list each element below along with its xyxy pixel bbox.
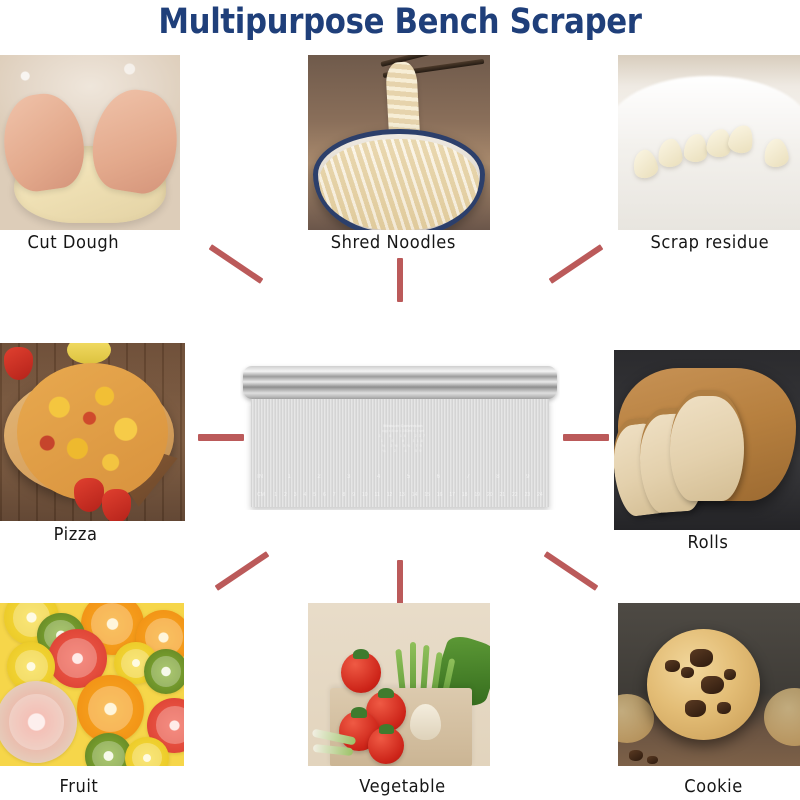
chocolate-chip-crumb	[629, 750, 644, 761]
rolls-photo	[614, 350, 800, 530]
connector-vegetable	[397, 560, 403, 604]
caption-cookie: Cookie	[684, 777, 743, 797]
use-case-rolls[interactable]	[614, 350, 800, 530]
connector-scrap-residue	[549, 244, 604, 284]
chocolate-chip	[717, 702, 731, 714]
ruler-inches: IN 12345 6789	[257, 471, 543, 483]
use-case-fruit[interactable]	[0, 603, 184, 766]
caption-fruit: Fruit	[59, 777, 98, 797]
fruit-photo	[0, 603, 184, 766]
pizza-photo	[0, 343, 185, 521]
cookie-photo	[618, 603, 800, 766]
caption-rolls: Rolls	[688, 533, 729, 553]
page-title: Multipurpose Bench Scraper	[48, 2, 752, 42]
connector-pizza	[198, 434, 244, 441]
chocolate-chip	[685, 700, 705, 717]
ruler-cm-marks: 123456 789101112 131415161718 1920212223…	[274, 492, 543, 498]
chocolate-chip-cookie	[647, 629, 760, 740]
vegetable-photo	[308, 603, 490, 766]
use-case-shred-noodles[interactable]	[308, 55, 490, 230]
connector-fruit	[215, 551, 270, 591]
connector-rolls	[563, 434, 609, 441]
chocolate-chip	[681, 667, 695, 678]
infographic-page: Multipurpose Bench Scraper Cut Dough	[0, 0, 800, 800]
ruler-inch-marks: 12345 6789	[274, 474, 543, 480]
kiwi-slice	[144, 649, 184, 695]
use-case-cut-dough[interactable]	[0, 55, 180, 230]
conversion-table-row: ¼ 2 4 59	[358, 449, 447, 454]
connector-shred-noodles	[397, 258, 403, 302]
caption-shred-noodles: Shred Noodles	[331, 233, 456, 253]
use-case-pizza[interactable]	[0, 343, 185, 521]
chocolate-chip	[701, 676, 724, 695]
conversion-table: Measure Conversion cup x 8 oz = 240ml = …	[358, 423, 447, 468]
use-case-scrap-residue[interactable]	[618, 55, 800, 230]
use-case-vegetable[interactable]	[308, 603, 490, 766]
scraper-handle	[243, 366, 557, 399]
connector-cookie	[544, 551, 599, 591]
background-cookie	[764, 688, 800, 747]
scraper-blade: Measure Conversion cup x 8 oz = 240ml = …	[251, 399, 549, 507]
connector-cut-dough	[209, 244, 264, 284]
product-image[interactable]: Measure Conversion cup x 8 oz = 240ml = …	[240, 360, 560, 510]
bread-slice	[670, 390, 744, 502]
caption-cut-dough: Cut Dough	[27, 233, 119, 253]
caption-scrap-residue: Scrap residue	[650, 233, 769, 253]
ruler-inch-label: IN	[257, 474, 274, 480]
chocolate-chip	[690, 649, 713, 667]
strawberry	[102, 489, 132, 521]
scrap-residue-photo	[618, 55, 800, 230]
garlic-bulb	[410, 704, 441, 740]
ruler-centimeters: CM 123456 789101112 131415161718 1920212…	[257, 489, 543, 501]
pomelo-slice	[0, 681, 77, 763]
cut-dough-photo	[0, 55, 180, 230]
tomato	[341, 652, 381, 693]
chocolate-chip-crumb	[647, 756, 658, 764]
shred-noodles-photo	[308, 55, 490, 230]
chocolate-chip	[665, 660, 680, 672]
ruler-cm-label: CM	[257, 492, 274, 498]
caption-vegetable: Vegetable	[359, 777, 445, 797]
noodle-pile	[319, 139, 479, 230]
use-case-cookie[interactable]	[618, 603, 800, 766]
caption-pizza: Pizza	[54, 525, 98, 545]
chocolate-chip	[724, 669, 736, 680]
